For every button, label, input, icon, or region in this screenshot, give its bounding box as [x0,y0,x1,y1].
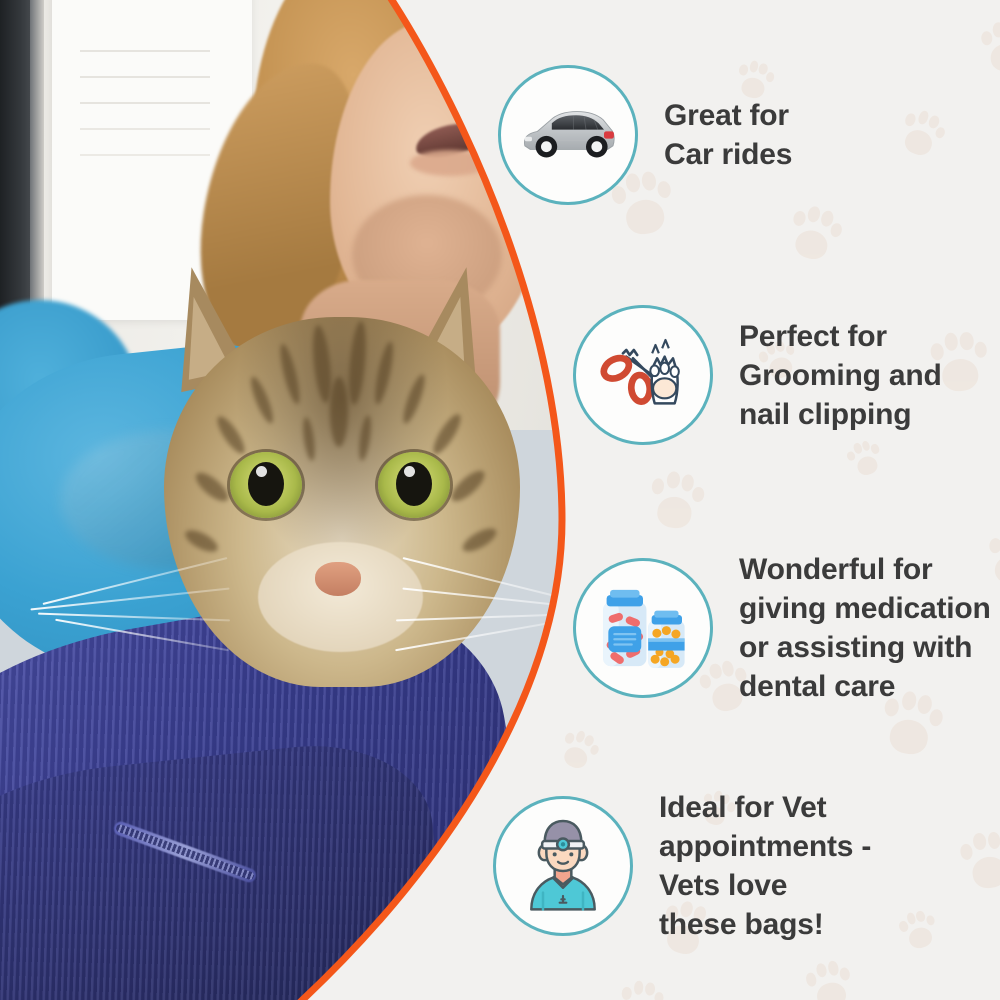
feature-icon-badge [573,558,713,698]
feature-list: Great for Car rides [0,0,1000,1000]
feature-label: Perfect for Grooming and nail clipping [739,317,942,434]
pill-bottles-icon [591,576,695,680]
feature-grooming[interactable]: Perfect for Grooming and nail clipping [573,305,942,445]
feature-icon-badge [573,305,713,445]
feature-medication[interactable]: Wonderful for giving medication or assis… [573,550,991,706]
feature-label: Wonderful for giving medication or assis… [739,550,991,706]
feature-icon-badge [498,65,638,205]
feature-label: Great for Car rides [664,96,792,174]
veterinarian-icon [513,816,613,916]
feature-icon-badge [493,796,633,936]
infographic-canvas: Great for Car rides [0,0,1000,1000]
feature-car-rides[interactable]: Great for Car rides [498,65,792,205]
feature-label: Ideal for Vet appointments - Vets love t… [659,788,871,944]
nail-clipper-paw-icon [593,325,693,425]
car-icon [514,81,622,189]
feature-vet-appointments[interactable]: Ideal for Vet appointments - Vets love t… [493,788,871,944]
